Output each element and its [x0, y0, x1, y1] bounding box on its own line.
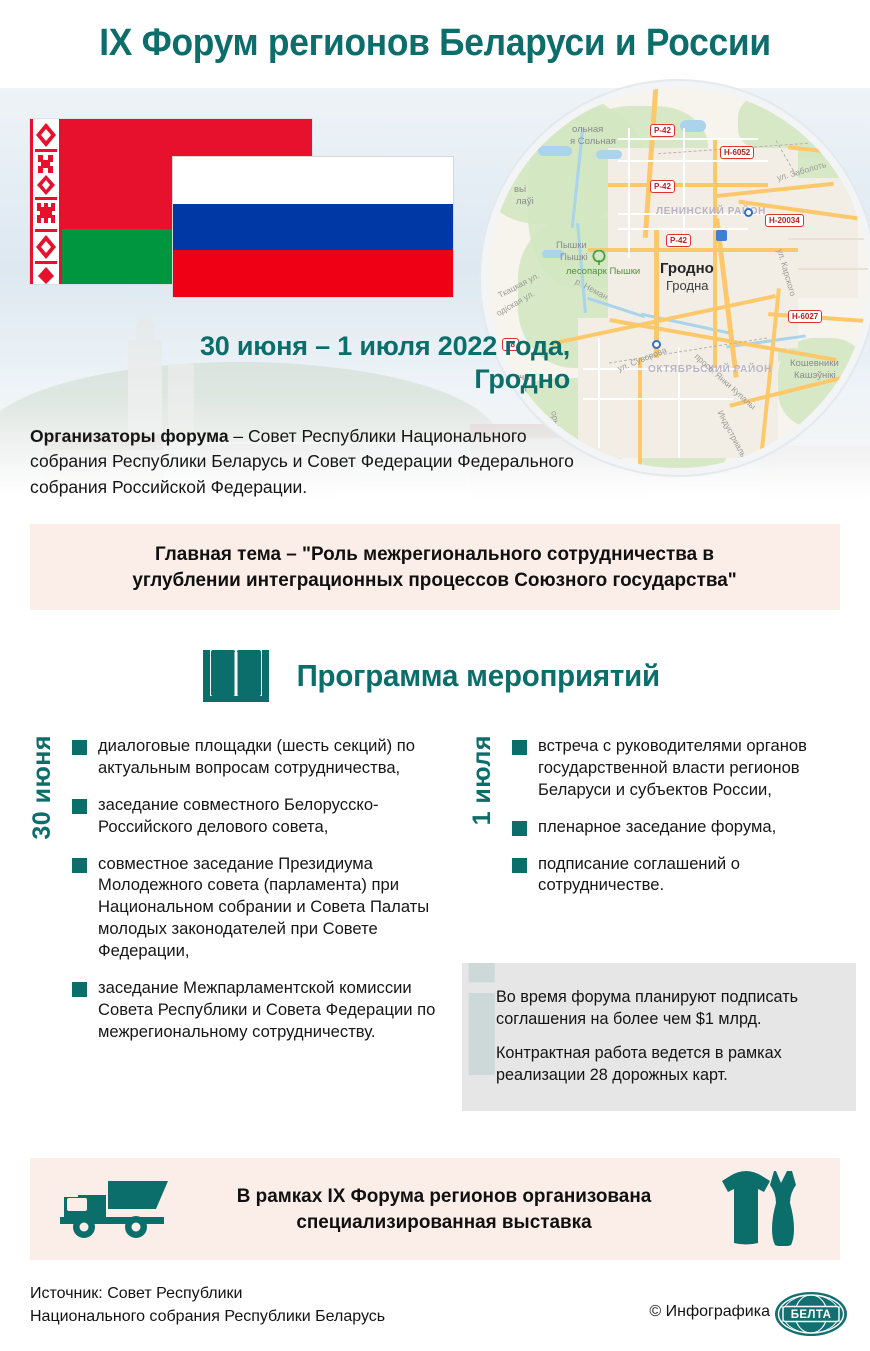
flag-red-band: [173, 250, 453, 297]
bullet-square-icon: [72, 982, 87, 997]
flag-ornament-strip: [30, 119, 62, 284]
main-road: [608, 183, 768, 187]
place-label: Пышки: [556, 240, 587, 251]
program-header: Программа мероприятий: [0, 648, 870, 704]
open-book-icon: [201, 648, 271, 704]
list-item: встреча с руководителями органов государ…: [512, 735, 856, 801]
place-label: ольная: [572, 124, 603, 135]
poi-marker[interactable]: [744, 208, 753, 217]
day-1-label: 30 июня: [28, 735, 62, 840]
minor-road: [683, 128, 685, 248]
event-dateline: 30 июня – 1 июля 2022 года, Гродно: [30, 330, 570, 396]
road-shield: Р-42: [650, 180, 675, 193]
lake: [538, 146, 572, 156]
place-label: Кашэўнікі: [794, 370, 836, 381]
minor-road: [583, 398, 733, 400]
place-label: я Сольная: [570, 136, 616, 147]
map-canvas: Р-42 Н-6052 Р-42 Н-20034 Р-42 Н-6027 18 …: [488, 88, 868, 468]
exhibition-text: В рамках IX Форума регионов организована…: [180, 1183, 708, 1236]
program-day-2: 1 июля встреча с руководителями органов …: [468, 735, 856, 911]
list-item: подписание соглашений о сотрудничестве.: [512, 853, 856, 897]
list-item-text: подписание соглашений о сотрудничестве.: [538, 853, 856, 897]
main-road: [713, 138, 717, 368]
poi-marker[interactable]: [652, 340, 661, 349]
place-label: лаўі: [516, 196, 534, 207]
list-item-text: заседание Межпарламентской комиссии Сове…: [98, 977, 446, 1043]
city-label-by: Гродна: [666, 278, 708, 293]
organizers-text: Организаторы форума – Совет Республики Н…: [30, 424, 590, 500]
bullet-square-icon: [72, 799, 87, 814]
list-item-text: встреча с руководителями органов государ…: [538, 735, 856, 801]
bullet-square-icon: [512, 740, 527, 755]
bullet-square-icon: [72, 740, 87, 755]
exhibition-line-1: В рамках IX Форума регионов организована: [237, 1185, 652, 1207]
clothing-icon: [716, 1168, 808, 1251]
ornament-pattern: [30, 119, 62, 284]
dump-truck-icon: [60, 1175, 172, 1244]
list-item-text: диалоговые площадки (шесть секций) по ак…: [98, 735, 446, 779]
organizers-label: Организаторы форума: [30, 426, 229, 446]
source-note: Источник: Совет Республики Национального…: [30, 1283, 550, 1328]
place-label: лесопарк Пышки: [566, 266, 640, 277]
program-day-1: 30 июня диалоговые площадки (шесть секци…: [28, 735, 446, 1058]
place-label: вьі: [514, 184, 526, 195]
day-1-items: диалоговые площадки (шесть секций) по ак…: [72, 735, 446, 1043]
road-shield: Н-20034: [765, 214, 804, 227]
minor-road: [618, 138, 758, 140]
info-paragraph-1: Во время форума планируют подписать согл…: [496, 987, 836, 1030]
page-title: IX Форум регионов Беларуси и России: [30, 22, 839, 65]
day-2-label: 1 июля: [468, 735, 502, 825]
belta-globe-icon: БЕЛТА: [774, 1291, 848, 1337]
main-road: [638, 358, 642, 468]
list-item: заседание Межпарламентской комиссии Сове…: [72, 977, 446, 1043]
program-heading: Программа мероприятий: [296, 658, 659, 694]
place-label: Пышкі: [560, 252, 588, 263]
city-label-ru: Гродно: [660, 260, 714, 277]
place-label: Кошевники: [790, 358, 839, 369]
flag-blue-band: [173, 204, 453, 251]
list-item: диалоговые площадки (шесть секций) по ак…: [72, 735, 446, 779]
road-shield: Р-42: [666, 234, 691, 247]
list-item-text: заседание совместного Белорусско-Российс…: [98, 794, 446, 838]
belta-logo: БЕЛТА: [774, 1291, 848, 1337]
list-item: пленарное заседание форума,: [512, 816, 856, 838]
dateline-dates: 30 июня – 1 июля 2022 года,: [30, 330, 570, 363]
theme-line-1: Главная тема – "Роль межрегионального со…: [155, 543, 714, 565]
belta-logo-text: БЕЛТА: [791, 1309, 832, 1321]
infographic-page: IX Форум регионов Беларуси и России: [0, 0, 870, 1351]
credit-text: © Инфографика: [649, 1303, 770, 1321]
lake: [596, 150, 622, 159]
grodno-map[interactable]: Р-42 Н-6052 Р-42 Н-20034 Р-42 Н-6027 18 …: [488, 88, 868, 468]
minor-road: [628, 128, 630, 258]
dateline-city: Гродно: [30, 363, 570, 396]
bullet-square-icon: [512, 821, 527, 836]
list-item: заседание совместного Белорусско-Российс…: [72, 794, 446, 838]
day-2-items: встреча с руководителями органов государ…: [512, 735, 856, 896]
info-paragraph-2: Контрактная работа ведется в рамках реал…: [496, 1043, 836, 1086]
road-shield: Р-42: [650, 124, 675, 137]
main-theme-text: Главная тема – "Роль межрегионального со…: [113, 541, 756, 594]
info-box: i Во время форума планируют подписать со…: [462, 963, 856, 1111]
bullet-square-icon: [512, 858, 527, 873]
exhibition-banner: В рамках IX Форума регионов организована…: [30, 1158, 840, 1260]
road-shield: Н-6027: [788, 310, 822, 323]
flag-white-band: [173, 157, 453, 204]
exhibition-line-2: специализированная выставка: [296, 1211, 591, 1233]
road-shield: Н-6052: [720, 146, 754, 159]
info-box-text: Во время форума планируют подписать согл…: [496, 987, 836, 1086]
source-line-1: Источник: Совет Республики: [30, 1283, 550, 1306]
minor-road: [598, 338, 600, 448]
track-road: [798, 268, 868, 270]
footer: Источник: Совет Республики Национального…: [0, 1277, 870, 1351]
main-road: [588, 248, 798, 252]
theme-line-2: углублении интеграционных процессов Союз…: [133, 569, 737, 591]
track-road: [788, 238, 868, 240]
poi-transit-marker[interactable]: [716, 230, 727, 241]
main-theme-box: Главная тема – "Роль межрегионального со…: [30, 524, 840, 610]
minor-road: [618, 160, 768, 162]
list-item-text: совместное заседание Президиума Молодежн…: [98, 853, 446, 962]
park-tree-icon: [592, 250, 606, 266]
source-line-2: Национального собрания Республики Белару…: [30, 1306, 550, 1329]
list-item: совместное заседание Президиума Молодежн…: [72, 853, 446, 962]
russia-flag: [172, 156, 454, 298]
bullet-square-icon: [72, 858, 87, 873]
list-item-text: пленарное заседание форума,: [538, 816, 776, 838]
